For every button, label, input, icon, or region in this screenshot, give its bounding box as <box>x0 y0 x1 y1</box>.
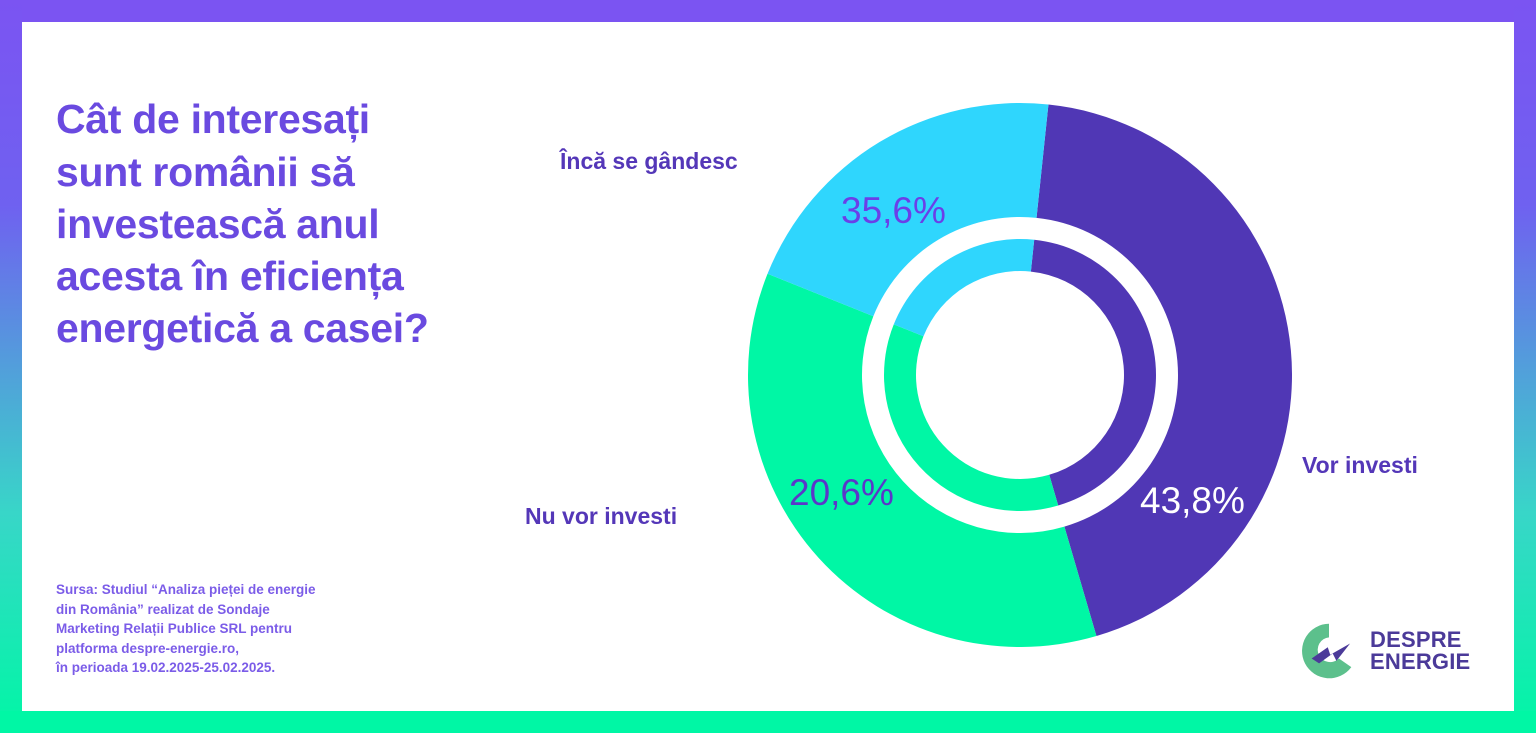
donut-chart <box>740 95 1300 655</box>
page-title: Cât de interesați sunt românii să invest… <box>56 93 526 353</box>
slice-label-no: Nu vor investi <box>525 503 677 530</box>
frame-border-left <box>0 0 22 733</box>
frame-border-bottom <box>0 711 1536 733</box>
despre-energie-mark-icon <box>1298 620 1360 682</box>
brand-logo: DESPRE ENERGIE <box>1298 620 1470 682</box>
donut-inner-ring <box>884 239 1156 511</box>
slice-label-thinking: Încă se gândesc <box>560 148 738 175</box>
donut-inner-slice <box>1031 240 1156 506</box>
infographic-poster: Cât de interesați sunt românii să invest… <box>0 0 1536 733</box>
donut-outer-ring <box>748 103 1292 647</box>
slice-value-no: 20,6% <box>789 472 894 514</box>
slice-value-yes: 43,8% <box>1140 480 1245 522</box>
frame-border-right <box>1514 0 1536 733</box>
slice-value-thinking: 35,6% <box>841 190 946 232</box>
donut-chart-svg <box>740 95 1300 655</box>
frame-border-top <box>0 0 1536 22</box>
brand-logo-text: DESPRE ENERGIE <box>1370 629 1470 674</box>
slice-label-yes: Vor investi <box>1302 452 1418 479</box>
source-note: Sursa: Studiul “Analiza pieței de energi… <box>56 580 386 678</box>
donut-outer-slice <box>1037 104 1292 636</box>
donut-inner-slice <box>884 324 1058 511</box>
